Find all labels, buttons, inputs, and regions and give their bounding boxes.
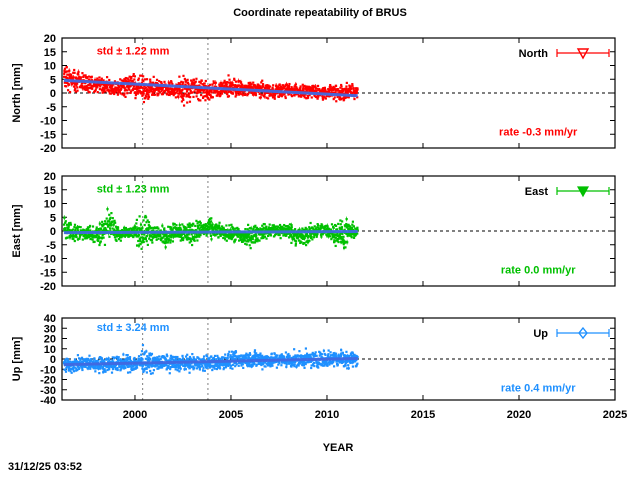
- data-point: [139, 215, 141, 217]
- data-point: [189, 367, 191, 369]
- data-point: [118, 356, 120, 358]
- data-point: [260, 237, 262, 239]
- data-point: [234, 355, 236, 357]
- data-point: [137, 240, 139, 242]
- data-point: [333, 365, 335, 367]
- x-tick-label: 2025: [603, 409, 627, 421]
- y-axis-label: North [mm]: [11, 63, 23, 123]
- data-point: [148, 366, 150, 368]
- data-point: [102, 237, 104, 239]
- data-point: [170, 358, 172, 360]
- data-point: [130, 77, 132, 79]
- data-point: [186, 354, 188, 356]
- data-point: [188, 372, 190, 374]
- data-point: [149, 78, 151, 80]
- data-point: [127, 78, 129, 80]
- data-point: [106, 86, 108, 88]
- data-point: [338, 241, 340, 243]
- data-point: [185, 368, 187, 370]
- data-point: [246, 356, 248, 358]
- data-point: [346, 82, 348, 84]
- data-point: [276, 367, 278, 369]
- data-point: [67, 358, 69, 360]
- data-point: [73, 370, 75, 372]
- data-point: [127, 354, 129, 356]
- data-point: [226, 93, 228, 95]
- data-point: [340, 236, 342, 238]
- data-point: [231, 351, 233, 353]
- data-point: [91, 76, 93, 78]
- data-point: [141, 95, 143, 97]
- y-tick-label: 5: [50, 74, 56, 86]
- data-point: [199, 234, 201, 236]
- data-point: [76, 90, 78, 92]
- data-point: [352, 221, 354, 223]
- data-point: [163, 81, 165, 83]
- data-point: [210, 235, 212, 237]
- data-point: [183, 104, 185, 106]
- data-point: [235, 351, 237, 353]
- data-point: [89, 91, 91, 93]
- data-point: [182, 75, 184, 77]
- data-point: [75, 236, 77, 238]
- data-point: [285, 97, 287, 99]
- data-point: [335, 85, 337, 87]
- data-point: [175, 96, 177, 98]
- data-point: [129, 371, 131, 373]
- data-point: [91, 88, 93, 90]
- data-point: [225, 224, 227, 226]
- data-point: [232, 93, 234, 95]
- data-point: [213, 82, 215, 84]
- data-point: [281, 95, 283, 97]
- data-point: [298, 364, 300, 366]
- y-axis-label: East [mm]: [11, 204, 23, 258]
- data-point: [67, 236, 69, 238]
- data-point: [123, 92, 125, 94]
- rate-annotation: rate -0.3 mm/yr: [499, 127, 578, 139]
- data-point: [145, 216, 147, 218]
- y-tick-label: 10: [44, 199, 56, 211]
- y-tick-label: -10: [40, 254, 56, 266]
- data-point: [196, 95, 198, 97]
- data-point: [160, 358, 162, 360]
- data-point: [311, 238, 313, 240]
- data-point: [134, 75, 136, 77]
- data-point: [203, 355, 205, 357]
- data-point: [80, 76, 82, 78]
- data-point: [151, 241, 153, 243]
- data-point: [204, 99, 206, 101]
- data-point: [73, 226, 75, 228]
- y-tick-label: -40: [40, 395, 56, 407]
- data-point: [151, 227, 153, 229]
- data-point: [329, 351, 331, 353]
- data-point: [189, 96, 191, 98]
- data-point: [199, 99, 201, 101]
- x-tick-label: 2000: [123, 409, 147, 421]
- data-point: [82, 238, 84, 240]
- trend-line: [64, 232, 358, 233]
- data-point: [353, 225, 355, 227]
- data-point: [324, 354, 326, 356]
- data-point: [269, 85, 271, 87]
- data-point: [269, 223, 271, 225]
- data-point: [267, 356, 269, 358]
- data-point: [90, 358, 92, 360]
- coordinate-repeatability-figure: Coordinate repeatability of BRUS31/12/25…: [0, 0, 640, 480]
- data-point: [204, 82, 206, 84]
- data-point: [187, 79, 189, 81]
- data-point: [295, 240, 297, 242]
- data-point: [229, 367, 231, 369]
- data-point: [142, 75, 144, 77]
- data-point: [261, 80, 263, 82]
- data-point: [270, 234, 272, 236]
- data-point: [214, 368, 216, 370]
- data-point: [256, 364, 258, 366]
- data-point: [170, 236, 172, 238]
- data-point: [201, 80, 203, 82]
- data-point: [208, 228, 210, 230]
- data-point: [151, 365, 153, 367]
- data-point: [108, 236, 110, 238]
- data-point: [146, 240, 148, 242]
- data-point: [285, 351, 287, 353]
- data-point: [189, 238, 191, 240]
- data-point: [351, 236, 353, 238]
- data-point: [303, 367, 305, 369]
- std-annotation: std ± 1.22 mm: [97, 45, 170, 57]
- data-point: [341, 226, 343, 228]
- data-point: [71, 372, 73, 374]
- data-point: [146, 371, 148, 373]
- data-point: [143, 241, 145, 243]
- data-point: [303, 242, 305, 244]
- y-tick-label: -10: [40, 116, 56, 128]
- data-point: [157, 93, 159, 95]
- data-point: [156, 79, 158, 81]
- data-point: [219, 367, 221, 369]
- data-point: [345, 85, 347, 87]
- data-point: [192, 91, 194, 93]
- data-point: [146, 368, 148, 370]
- data-point: [182, 357, 184, 359]
- data-point: [178, 370, 180, 372]
- data-point: [69, 91, 71, 93]
- data-point: [133, 78, 135, 80]
- data-point: [254, 225, 256, 227]
- data-point: [194, 225, 196, 227]
- data-point: [259, 352, 261, 354]
- data-point: [120, 240, 122, 242]
- data-point: [330, 354, 332, 356]
- data-point: [154, 94, 156, 96]
- data-point: [328, 349, 330, 351]
- data-point: [88, 355, 90, 357]
- data-point: [264, 223, 266, 225]
- data-point: [200, 94, 202, 96]
- data-point: [291, 95, 293, 97]
- data-point: [204, 370, 206, 372]
- data-point: [267, 97, 269, 99]
- data-point: [153, 76, 155, 78]
- data-point: [67, 89, 69, 91]
- data-point: [94, 370, 96, 372]
- data-point: [138, 234, 140, 236]
- data-point: [315, 351, 317, 353]
- data-point: [242, 363, 244, 365]
- data-point: [337, 223, 339, 225]
- data-point: [227, 357, 229, 359]
- data-point: [289, 355, 291, 357]
- data-point: [255, 94, 257, 96]
- data-point: [64, 227, 66, 229]
- data-point: [310, 222, 312, 224]
- data-point: [92, 239, 94, 241]
- data-point: [147, 244, 149, 246]
- data-point: [137, 92, 139, 94]
- data-point: [226, 240, 228, 242]
- data-point: [98, 76, 100, 78]
- data-point: [182, 99, 184, 101]
- data-point: [298, 350, 300, 352]
- data-point: [65, 371, 67, 373]
- data-point: [205, 80, 207, 82]
- data-point: [95, 89, 97, 91]
- data-point: [66, 66, 68, 68]
- data-point: [156, 239, 158, 241]
- data-point: [206, 355, 208, 357]
- data-point: [73, 69, 75, 71]
- data-point: [290, 242, 292, 244]
- data-point: [104, 90, 106, 92]
- timestamp-label: 31/12/25 03:52: [8, 461, 82, 473]
- data-point: [336, 228, 338, 230]
- data-point: [247, 224, 249, 226]
- data-point: [181, 223, 183, 225]
- y-tick-label: -15: [40, 129, 56, 141]
- data-point: [300, 85, 302, 87]
- data-point: [78, 238, 80, 240]
- data-point: [249, 244, 251, 246]
- data-point: [134, 97, 136, 99]
- data-point: [151, 353, 153, 355]
- data-point: [279, 83, 281, 85]
- data-point: [238, 239, 240, 241]
- data-point: [349, 85, 351, 87]
- data-point: [113, 220, 115, 222]
- data-point: [109, 217, 111, 219]
- data-point: [64, 369, 66, 371]
- data-point: [247, 93, 249, 95]
- data-point: [114, 222, 116, 224]
- data-point: [357, 88, 359, 90]
- data-point: [117, 369, 119, 371]
- data-point: [146, 78, 148, 80]
- data-point: [140, 248, 142, 250]
- data-point: [157, 228, 159, 230]
- data-point: [145, 238, 147, 240]
- data-point: [101, 221, 103, 223]
- data-point: [99, 88, 101, 90]
- data-point: [217, 236, 219, 238]
- data-point: [76, 86, 78, 88]
- data-point: [175, 368, 177, 370]
- data-point: [331, 223, 333, 225]
- data-point: [81, 72, 83, 74]
- data-point: [265, 226, 267, 228]
- data-point: [195, 81, 197, 83]
- y-tick-label: 15: [44, 47, 56, 59]
- data-point: [87, 228, 89, 230]
- data-point: [176, 356, 178, 358]
- data-point: [246, 243, 248, 245]
- data-point: [127, 372, 129, 374]
- data-point: [152, 372, 154, 374]
- data-point: [170, 239, 172, 241]
- data-point: [211, 91, 213, 93]
- data-point: [191, 353, 193, 355]
- panel-north: 20151050-5-10-15-20std ± 1.22 mmrate -0.…: [11, 33, 615, 155]
- data-point: [321, 353, 323, 355]
- data-point: [129, 356, 131, 358]
- data-point: [73, 72, 75, 74]
- data-point: [189, 101, 191, 103]
- data-point: [249, 354, 251, 356]
- data-point: [104, 220, 106, 222]
- data-point: [293, 348, 295, 350]
- data-point: [70, 75, 72, 77]
- data-point: [356, 227, 358, 229]
- data-point: [142, 344, 144, 346]
- figure-root: Coordinate repeatability of BRUS31/12/25…: [0, 0, 640, 480]
- data-point: [311, 96, 313, 98]
- data-point: [124, 96, 126, 98]
- data-point: [191, 244, 193, 246]
- data-point: [228, 95, 230, 97]
- data-point: [144, 78, 146, 80]
- data-point: [149, 225, 151, 227]
- std-annotation: std ± 1.23 mm: [97, 183, 170, 195]
- data-point: [224, 353, 226, 355]
- data-point: [235, 94, 237, 96]
- data-point: [295, 243, 297, 245]
- data-point: [126, 89, 128, 91]
- data-point: [117, 94, 119, 96]
- rate-annotation: rate 0.0 mm/yr: [501, 265, 576, 277]
- data-point: [280, 237, 282, 239]
- data-point: [317, 85, 319, 87]
- data-point: [175, 224, 177, 226]
- y-tick-label: 10: [44, 61, 56, 73]
- data-point: [353, 237, 355, 239]
- data-point: [104, 244, 106, 246]
- data-point: [274, 353, 276, 355]
- data-point: [141, 350, 143, 352]
- data-point: [218, 222, 220, 224]
- data-point: [335, 353, 337, 355]
- data-point: [104, 370, 106, 372]
- data-point: [250, 247, 252, 249]
- data-point: [182, 239, 184, 241]
- panel-up: 403020100-10-20-30-402000200520102015202…: [11, 313, 627, 421]
- data-point: [182, 81, 184, 83]
- data-point: [262, 83, 264, 85]
- data-point: [211, 369, 213, 371]
- data-point: [196, 234, 198, 236]
- data-point: [317, 366, 319, 368]
- data-point: [210, 217, 212, 219]
- data-point: [206, 367, 208, 369]
- data-point: [238, 365, 240, 367]
- data-point: [143, 101, 145, 103]
- data-point: [133, 357, 135, 359]
- data-point: [264, 365, 266, 367]
- data-point: [93, 358, 95, 360]
- data-point: [288, 83, 290, 85]
- data-point: [254, 349, 256, 351]
- data-point: [167, 241, 169, 243]
- x-tick-label: 2015: [411, 409, 435, 421]
- data-point: [74, 240, 76, 242]
- y-tick-label: -20: [40, 143, 56, 155]
- data-point: [144, 224, 146, 226]
- data-point: [230, 224, 232, 226]
- data-point: [308, 240, 310, 242]
- data-point: [182, 237, 184, 239]
- data-point: [106, 217, 108, 219]
- data-point: [264, 236, 266, 238]
- y-tick-label: 0: [50, 88, 56, 100]
- data-point: [227, 74, 229, 76]
- data-point: [327, 353, 329, 355]
- data-point: [208, 98, 210, 100]
- data-point: [124, 367, 126, 369]
- data-point: [329, 235, 331, 237]
- data-point: [80, 226, 82, 228]
- y-tick-label: -15: [40, 267, 56, 279]
- data-point: [72, 229, 74, 231]
- data-point: [310, 236, 312, 238]
- data-point: [194, 240, 196, 242]
- data-point: [195, 78, 197, 80]
- y-tick-label: -20: [40, 281, 56, 293]
- data-point: [252, 238, 254, 240]
- data-point: [342, 236, 344, 238]
- data-point: [149, 370, 151, 372]
- data-point: [148, 91, 150, 93]
- data-point: [221, 93, 223, 95]
- data-point: [316, 355, 318, 357]
- legend-label: North: [519, 48, 549, 60]
- data-point: [92, 225, 94, 227]
- data-point: [140, 354, 142, 356]
- data-point: [106, 76, 108, 78]
- data-point: [310, 367, 312, 369]
- data-point: [145, 86, 147, 88]
- data-point: [335, 245, 337, 247]
- data-point: [227, 82, 229, 84]
- data-point: [99, 85, 101, 87]
- y-tick-label: 20: [44, 171, 56, 183]
- data-point: [186, 101, 188, 103]
- x-axis-label: YEAR: [323, 442, 354, 454]
- data-point: [213, 357, 215, 359]
- data-point: [341, 220, 343, 222]
- data-point: [308, 235, 310, 237]
- data-point: [65, 220, 67, 222]
